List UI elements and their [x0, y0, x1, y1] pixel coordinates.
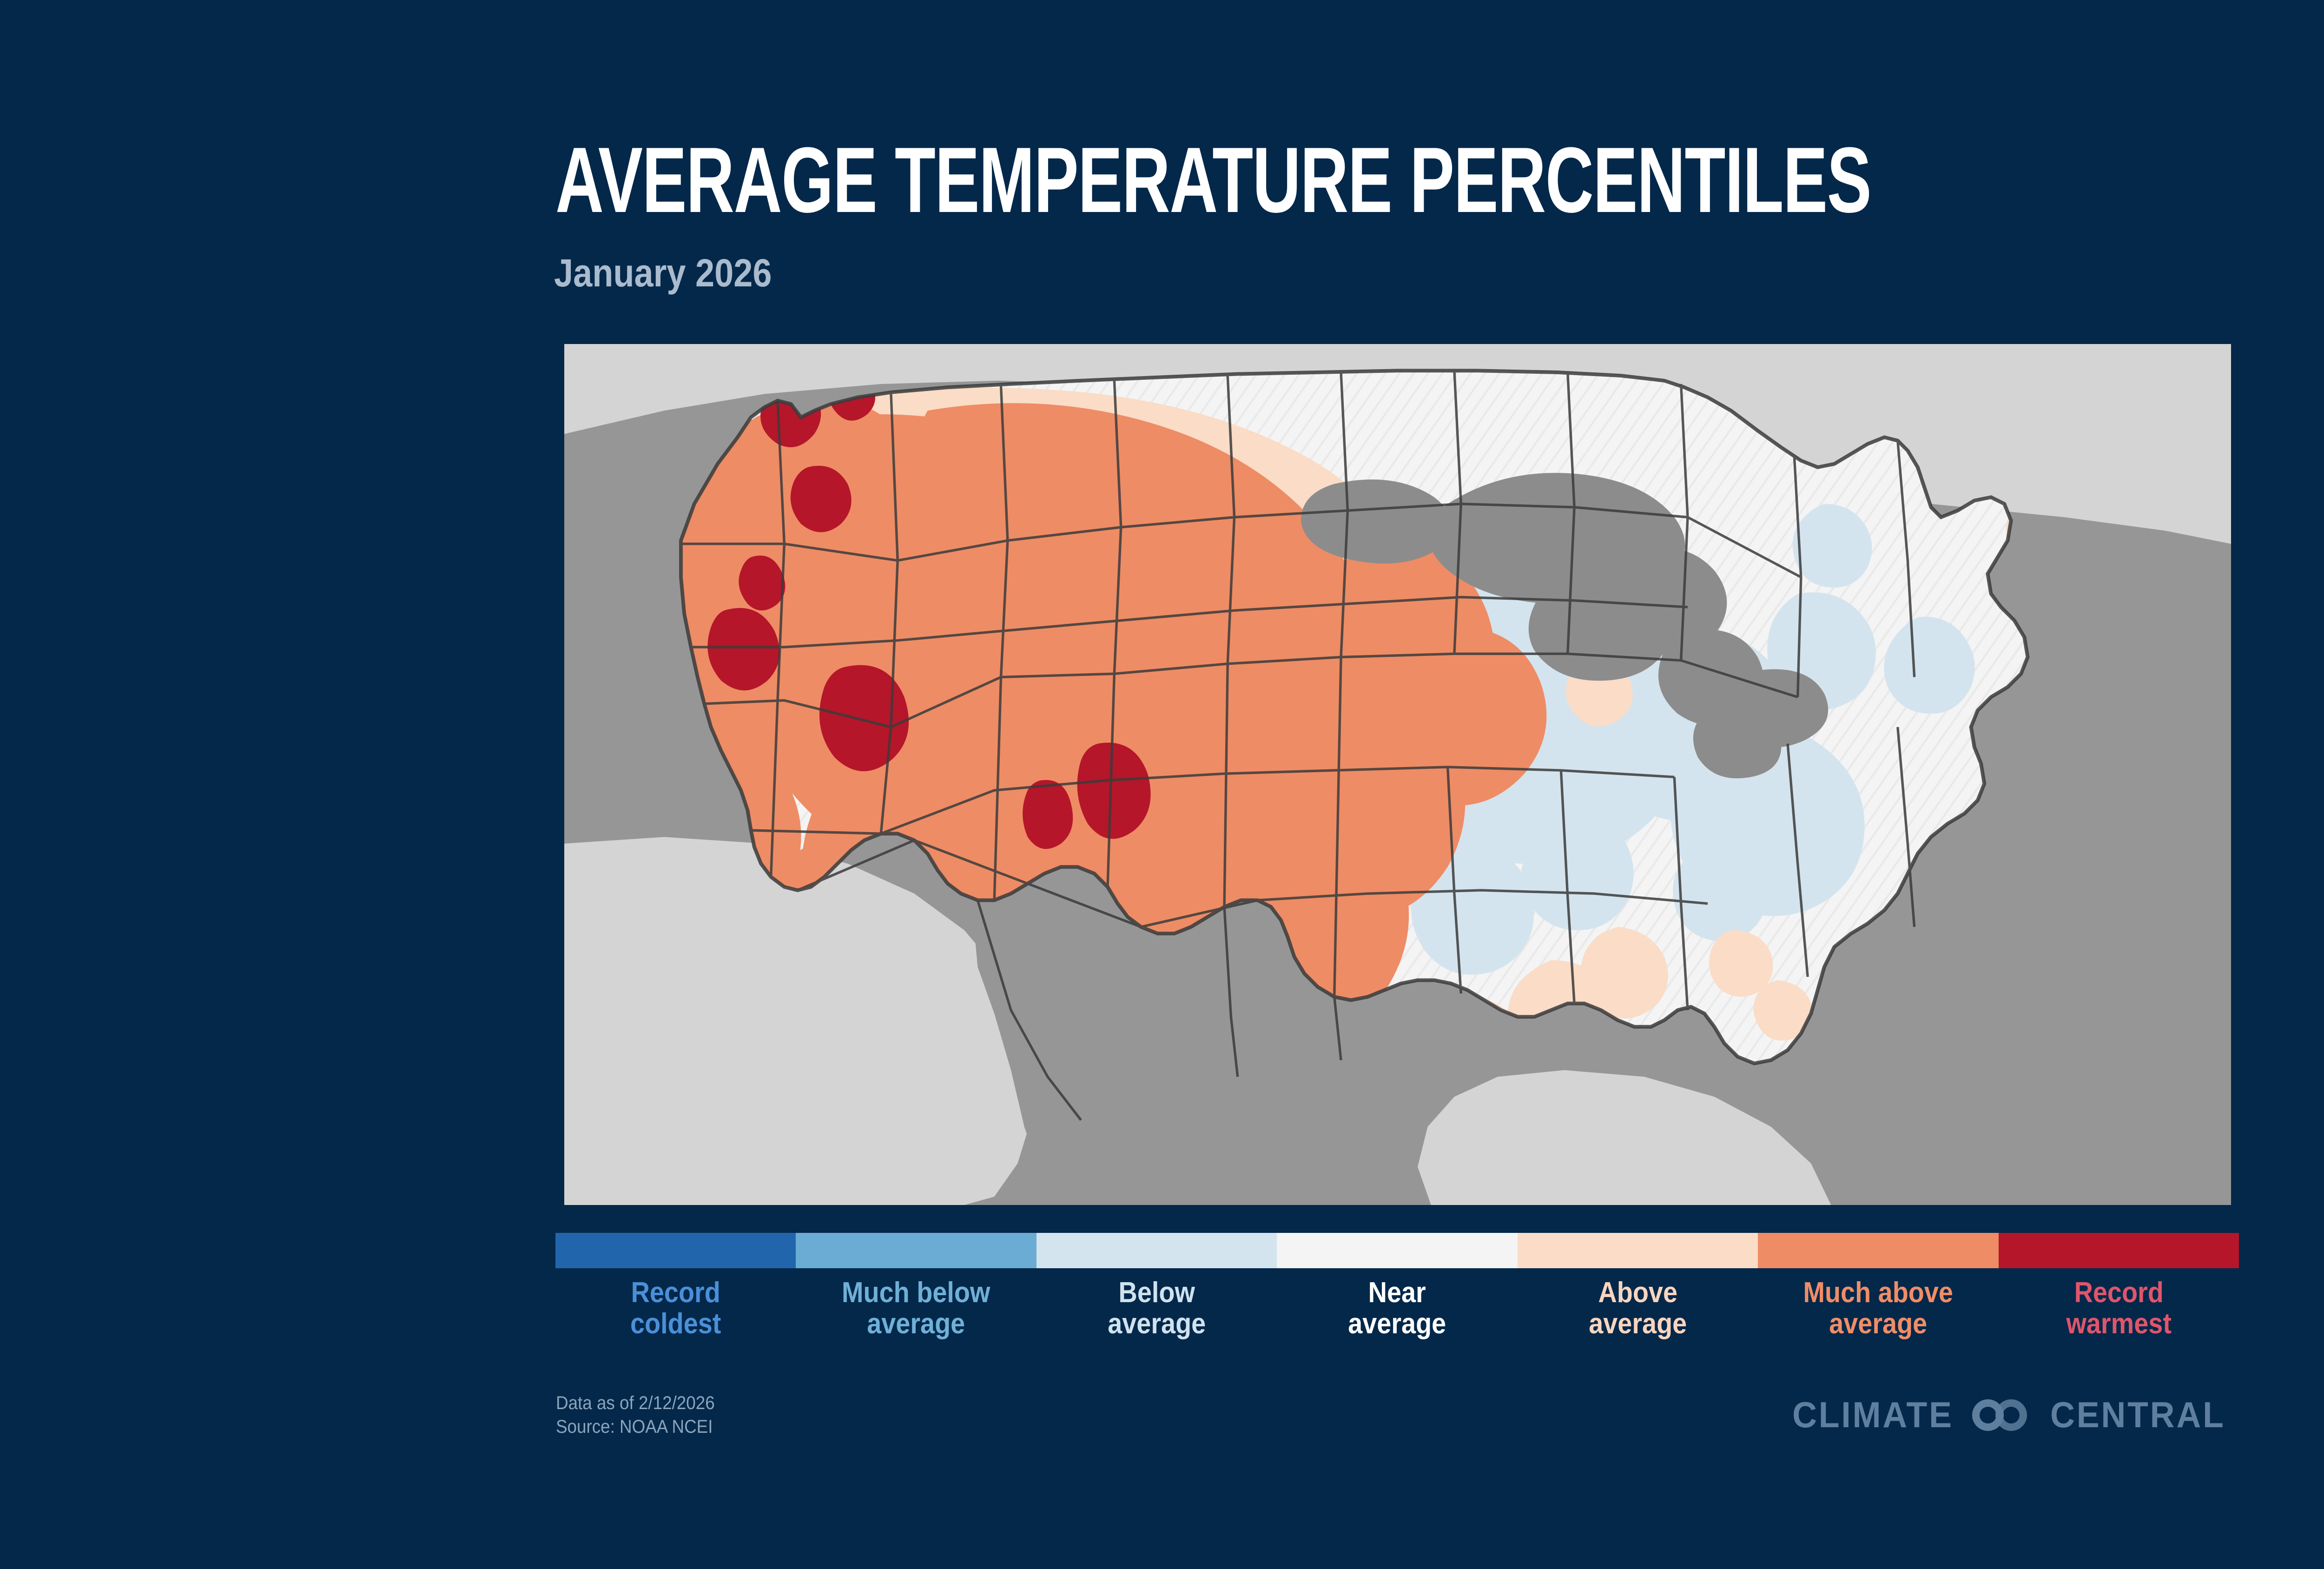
legend-label-line1: Above: [1598, 1277, 1677, 1309]
source-note: Data as of 2/12/2026 Source: NOAA NCEI: [556, 1391, 715, 1439]
infographic-canvas: AVERAGE TEMPERATURE PERCENTILES January …: [0, 0, 2324, 1569]
legend-swatch-record-warmest: [1999, 1233, 2239, 1268]
source-text: Source: NOAA NCEI: [556, 1415, 715, 1439]
map-svg: [564, 344, 2231, 1205]
legend-swatch-bar: [555, 1233, 2239, 1268]
legend-label-line1: Record: [2074, 1277, 2163, 1309]
legend-swatch-near-average: [1277, 1233, 1517, 1268]
climate-central-logo: CLIMATE CENTRAL: [1787, 1394, 2231, 1436]
legend-label-line2: average: [808, 1309, 1024, 1340]
page-subtitle: January 2026: [554, 253, 772, 292]
legend-labels: Record coldest Much below average Below …: [555, 1278, 2239, 1340]
temperature-percentile-map: [564, 344, 2231, 1205]
legend-label-much-above-average: Much above average: [1770, 1278, 1987, 1340]
logo-word-central: CENTRAL: [2050, 1394, 2225, 1436]
interlocking-rings-icon: [1967, 1397, 2036, 1434]
page-title: AVERAGE TEMPERATURE PERCENTILES: [555, 134, 1871, 227]
legend-label-line1: Record: [631, 1277, 720, 1309]
legend-swatch-below-average: [1037, 1233, 1277, 1268]
data-as-of-text: Data as of 2/12/2026: [556, 1391, 715, 1415]
legend-label-line1: Much above: [1803, 1277, 1953, 1309]
legend-swatch-much-above-average: [1758, 1233, 1998, 1268]
legend-label-above-average: Above average: [1530, 1278, 1746, 1340]
legend-label-line1: Near: [1368, 1277, 1426, 1309]
legend: Record coldest Much below average Below …: [555, 1233, 2239, 1340]
legend-label-line2: average: [1770, 1309, 1987, 1340]
legend-swatch-much-below-average: [796, 1233, 1036, 1268]
legend-label-line2: coldest: [568, 1309, 784, 1340]
legend-label-near-average: Near average: [1289, 1278, 1505, 1340]
legend-label-record-warmest: Record warmest: [2010, 1278, 2227, 1340]
legend-label-much-below-average: Much below average: [808, 1278, 1024, 1340]
legend-swatch-record-coldest: [555, 1233, 796, 1268]
legend-swatch-above-average: [1518, 1233, 1758, 1268]
legend-label-below-average: Below average: [1049, 1278, 1265, 1340]
legend-label-line2: average: [1289, 1309, 1505, 1340]
logo-word-climate: CLIMATE: [1792, 1394, 1954, 1436]
legend-label-line1: Below: [1118, 1277, 1195, 1309]
legend-label-line2: average: [1530, 1309, 1746, 1340]
legend-label-line2: warmest: [2010, 1309, 2227, 1340]
legend-label-line2: average: [1049, 1309, 1265, 1340]
legend-label-record-coldest: Record coldest: [568, 1278, 784, 1340]
legend-label-line1: Much below: [842, 1277, 990, 1309]
